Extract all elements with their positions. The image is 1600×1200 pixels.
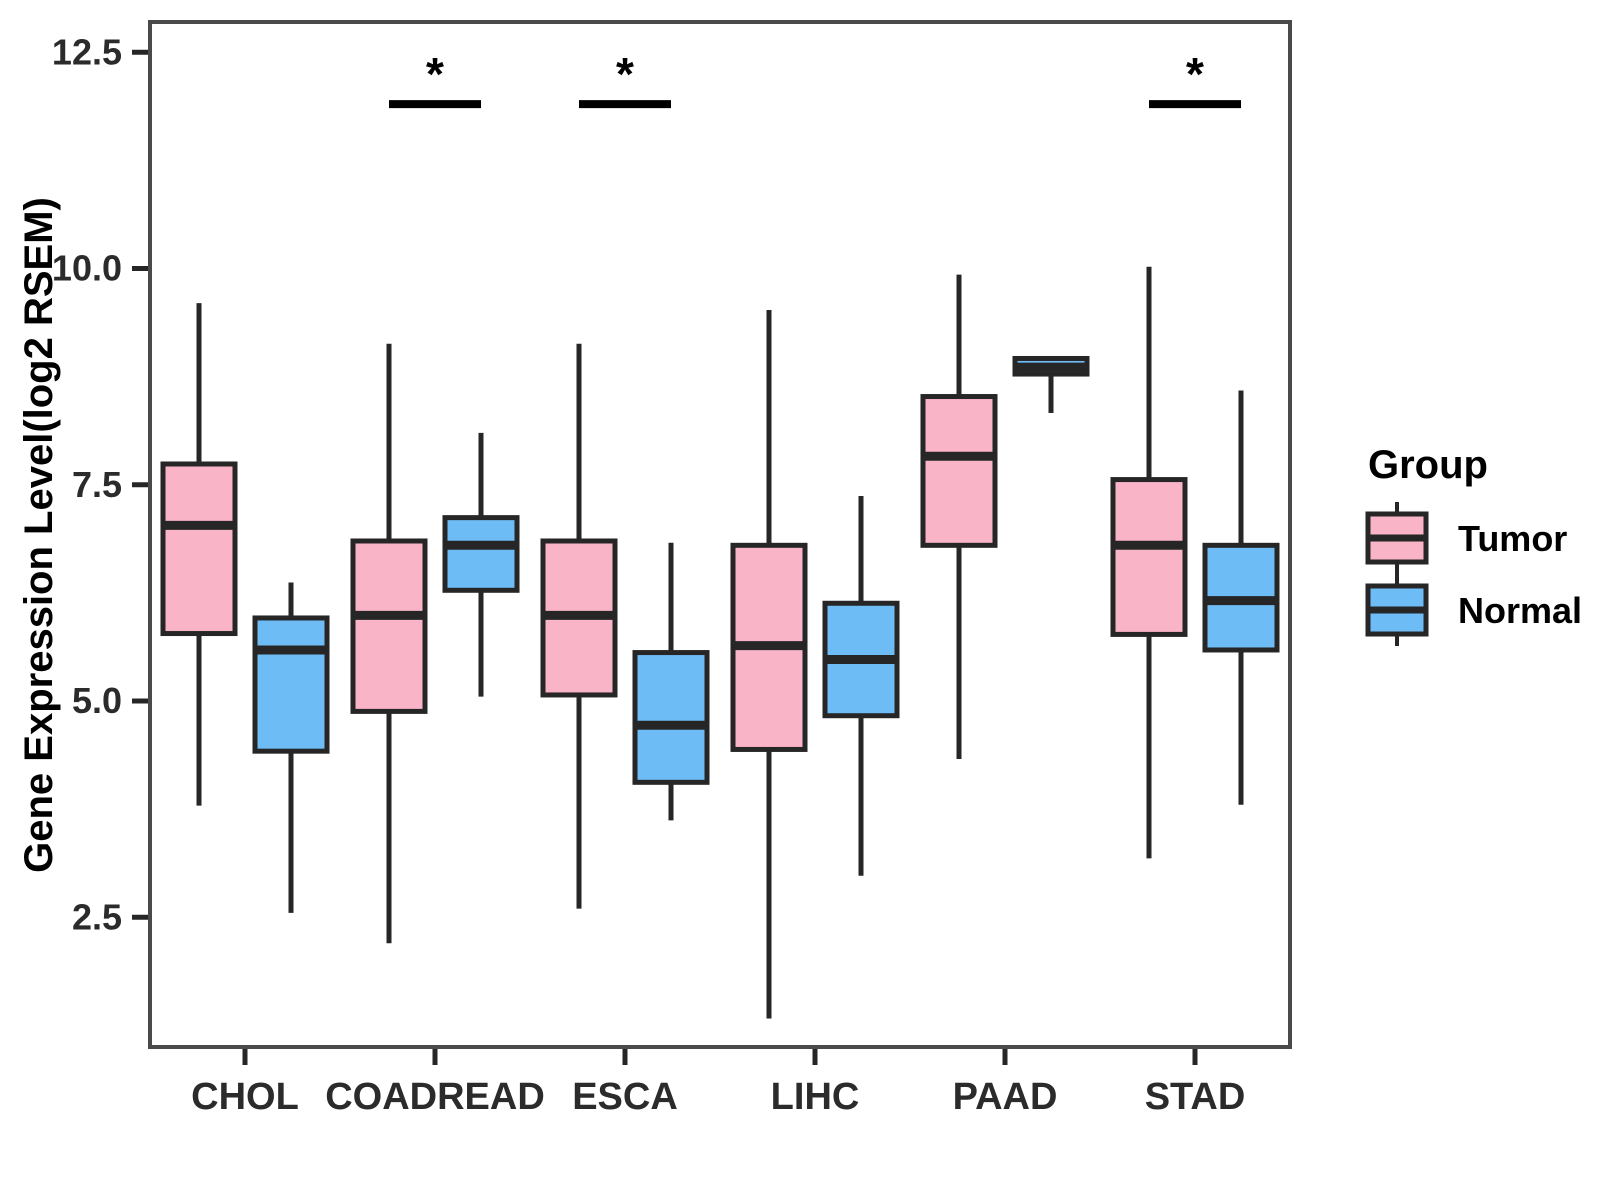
- y-axis-title: Gene Expression Level(log2 RSEM): [17, 197, 61, 873]
- y-axis-ticks: [132, 52, 150, 917]
- box-rect: [1113, 480, 1185, 635]
- y-tick-label: 10.0: [52, 248, 122, 289]
- box-rect: [923, 397, 995, 546]
- x-axis-label-esca: ESCA: [572, 1076, 678, 1118]
- box-rect: [635, 653, 707, 783]
- boxplot-canvas: 2.55.07.510.012.5 CHOLCOADREADESCALIHCPA…: [0, 0, 1600, 1200]
- y-axis-tick-labels: 2.55.07.510.012.5: [52, 31, 122, 937]
- box-rect: [163, 464, 235, 634]
- legend-entries: TumorNormal: [1368, 502, 1582, 646]
- box-rect: [255, 618, 327, 751]
- legend-label-tumor: Tumor: [1458, 518, 1567, 559]
- x-axis-category-labels: CHOLCOADREADESCALIHCPAADSTAD: [191, 1076, 1245, 1118]
- x-axis-label-stad: STAD: [1145, 1076, 1246, 1118]
- significance-star-stad: *: [1186, 48, 1204, 100]
- x-axis-label-lihc: LIHC: [771, 1076, 860, 1118]
- box-rect: [445, 518, 517, 591]
- y-axis-title-group: Gene Expression Level(log2 RSEM): [17, 197, 61, 873]
- x-axis-label-coadread: COADREAD: [325, 1076, 545, 1118]
- significance-star-esca: *: [616, 48, 634, 100]
- x-axis-ticks: [245, 1047, 1195, 1065]
- legend: Group TumorNormal: [1368, 443, 1582, 646]
- x-axis-label-paad: PAAD: [953, 1076, 1058, 1118]
- y-tick-label: 5.0: [72, 680, 122, 721]
- legend-entry-tumor[interactable]: Tumor: [1368, 502, 1567, 574]
- x-axis-label-chol: CHOL: [191, 1076, 299, 1118]
- y-tick-label: 12.5: [52, 31, 122, 72]
- legend-title: Group: [1368, 443, 1488, 487]
- y-tick-label: 2.5: [72, 896, 122, 937]
- box-rect: [353, 541, 425, 711]
- chart-figure: 2.55.07.510.012.5 CHOLCOADREADESCALIHCPA…: [0, 0, 1600, 1200]
- legend-entry-normal[interactable]: Normal: [1368, 574, 1582, 646]
- legend-label-normal: Normal: [1458, 590, 1582, 631]
- y-tick-label: 7.5: [72, 464, 122, 505]
- significance-star-coadread: *: [426, 48, 444, 100]
